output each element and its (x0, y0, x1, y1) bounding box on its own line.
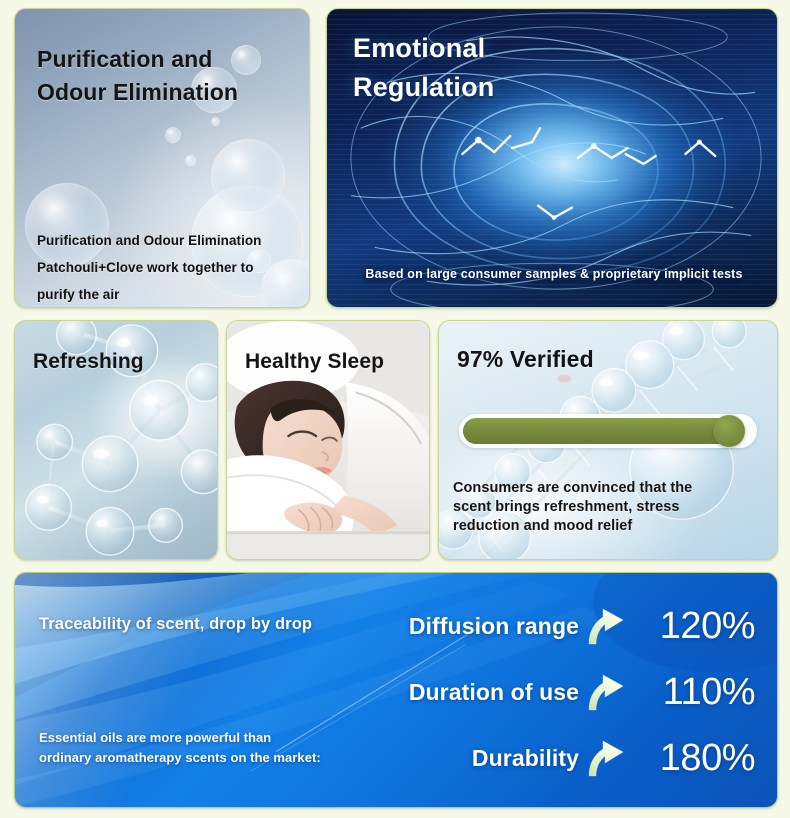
sleep-title: Healthy Sleep (245, 347, 384, 377)
stats-sub-line2: ordinary aromatherapy scents on the mark… (39, 748, 321, 768)
verified-caption: Consumers are convinced that the scent b… (453, 479, 765, 536)
purification-caption-line3: purify the air (37, 281, 305, 308)
bubble-decoration (211, 117, 220, 126)
panel-purification: Purification and Odour Elimination Purif… (14, 8, 310, 308)
panel-healthy-sleep: Healthy Sleep (226, 320, 430, 560)
verified-title: 97% Verified (457, 343, 594, 376)
panel-refreshing: Refreshing (14, 320, 218, 560)
stats-lead-text: Traceability of scent, drop by drop (39, 615, 312, 634)
stat-value: 110% (631, 671, 755, 714)
stat-label: Duration of use (409, 679, 579, 706)
up-arrow-icon (585, 604, 629, 648)
stat-value: 180% (631, 737, 755, 780)
stat-label: Durability (472, 745, 579, 772)
purification-title-line2: Odour Elimination (37, 79, 238, 105)
panel-emotional-regulation: Emotional Regulation Based on large cons… (326, 8, 778, 308)
purification-caption-line2: Patchouli+Clove work together to (37, 254, 305, 281)
slider-fill (463, 418, 744, 444)
refreshing-title: Refreshing (33, 347, 144, 377)
stat-value: 120% (631, 605, 755, 648)
purification-title: Purification and Odour Elimination (37, 43, 238, 108)
emotional-title: Emotional Regulation (353, 29, 495, 107)
stat-row: Duration of use 110% (383, 659, 755, 725)
emotional-title-line1: Emotional (353, 33, 485, 63)
purification-title-line1: Purification and (37, 46, 212, 72)
stats-sub-text: Essential oils are more powerful than or… (39, 728, 321, 767)
purification-caption: Purification and Odour Elimination Patch… (37, 227, 305, 308)
bubble-decoration (211, 139, 285, 213)
panel-verified: 97% Verified Consumers are convinced tha… (438, 320, 778, 560)
purification-caption-line1: Purification and Odour Elimination (37, 227, 305, 254)
slider-knob[interactable] (713, 415, 745, 447)
bubble-decoration (165, 127, 181, 143)
emotional-title-line2: Regulation (353, 72, 495, 102)
verified-caption-line3: reduction and mood relief (453, 517, 765, 536)
stat-rows: Diffusion range 120%Duration of use 110%… (383, 593, 755, 791)
infographic-page: Purification and Odour Elimination Purif… (0, 0, 790, 818)
verified-caption-line1: Consumers are convinced that the (453, 479, 765, 498)
panel-performance-stats: Traceability of scent, drop by drop Esse… (14, 572, 778, 808)
up-arrow-icon (585, 736, 629, 780)
stats-sub-line1: Essential oils are more powerful than (39, 728, 321, 748)
stat-label: Diffusion range (409, 613, 579, 640)
bubble-decoration (185, 155, 196, 166)
up-arrow-icon (585, 670, 629, 714)
stat-row: Durability 180% (383, 725, 755, 791)
emotional-caption: Based on large consumer samples & propri… (345, 267, 763, 281)
stat-row: Diffusion range 120% (383, 593, 755, 659)
verification-progress-slider[interactable] (459, 414, 757, 448)
verified-caption-line2: scent brings refreshment, stress (453, 498, 765, 517)
